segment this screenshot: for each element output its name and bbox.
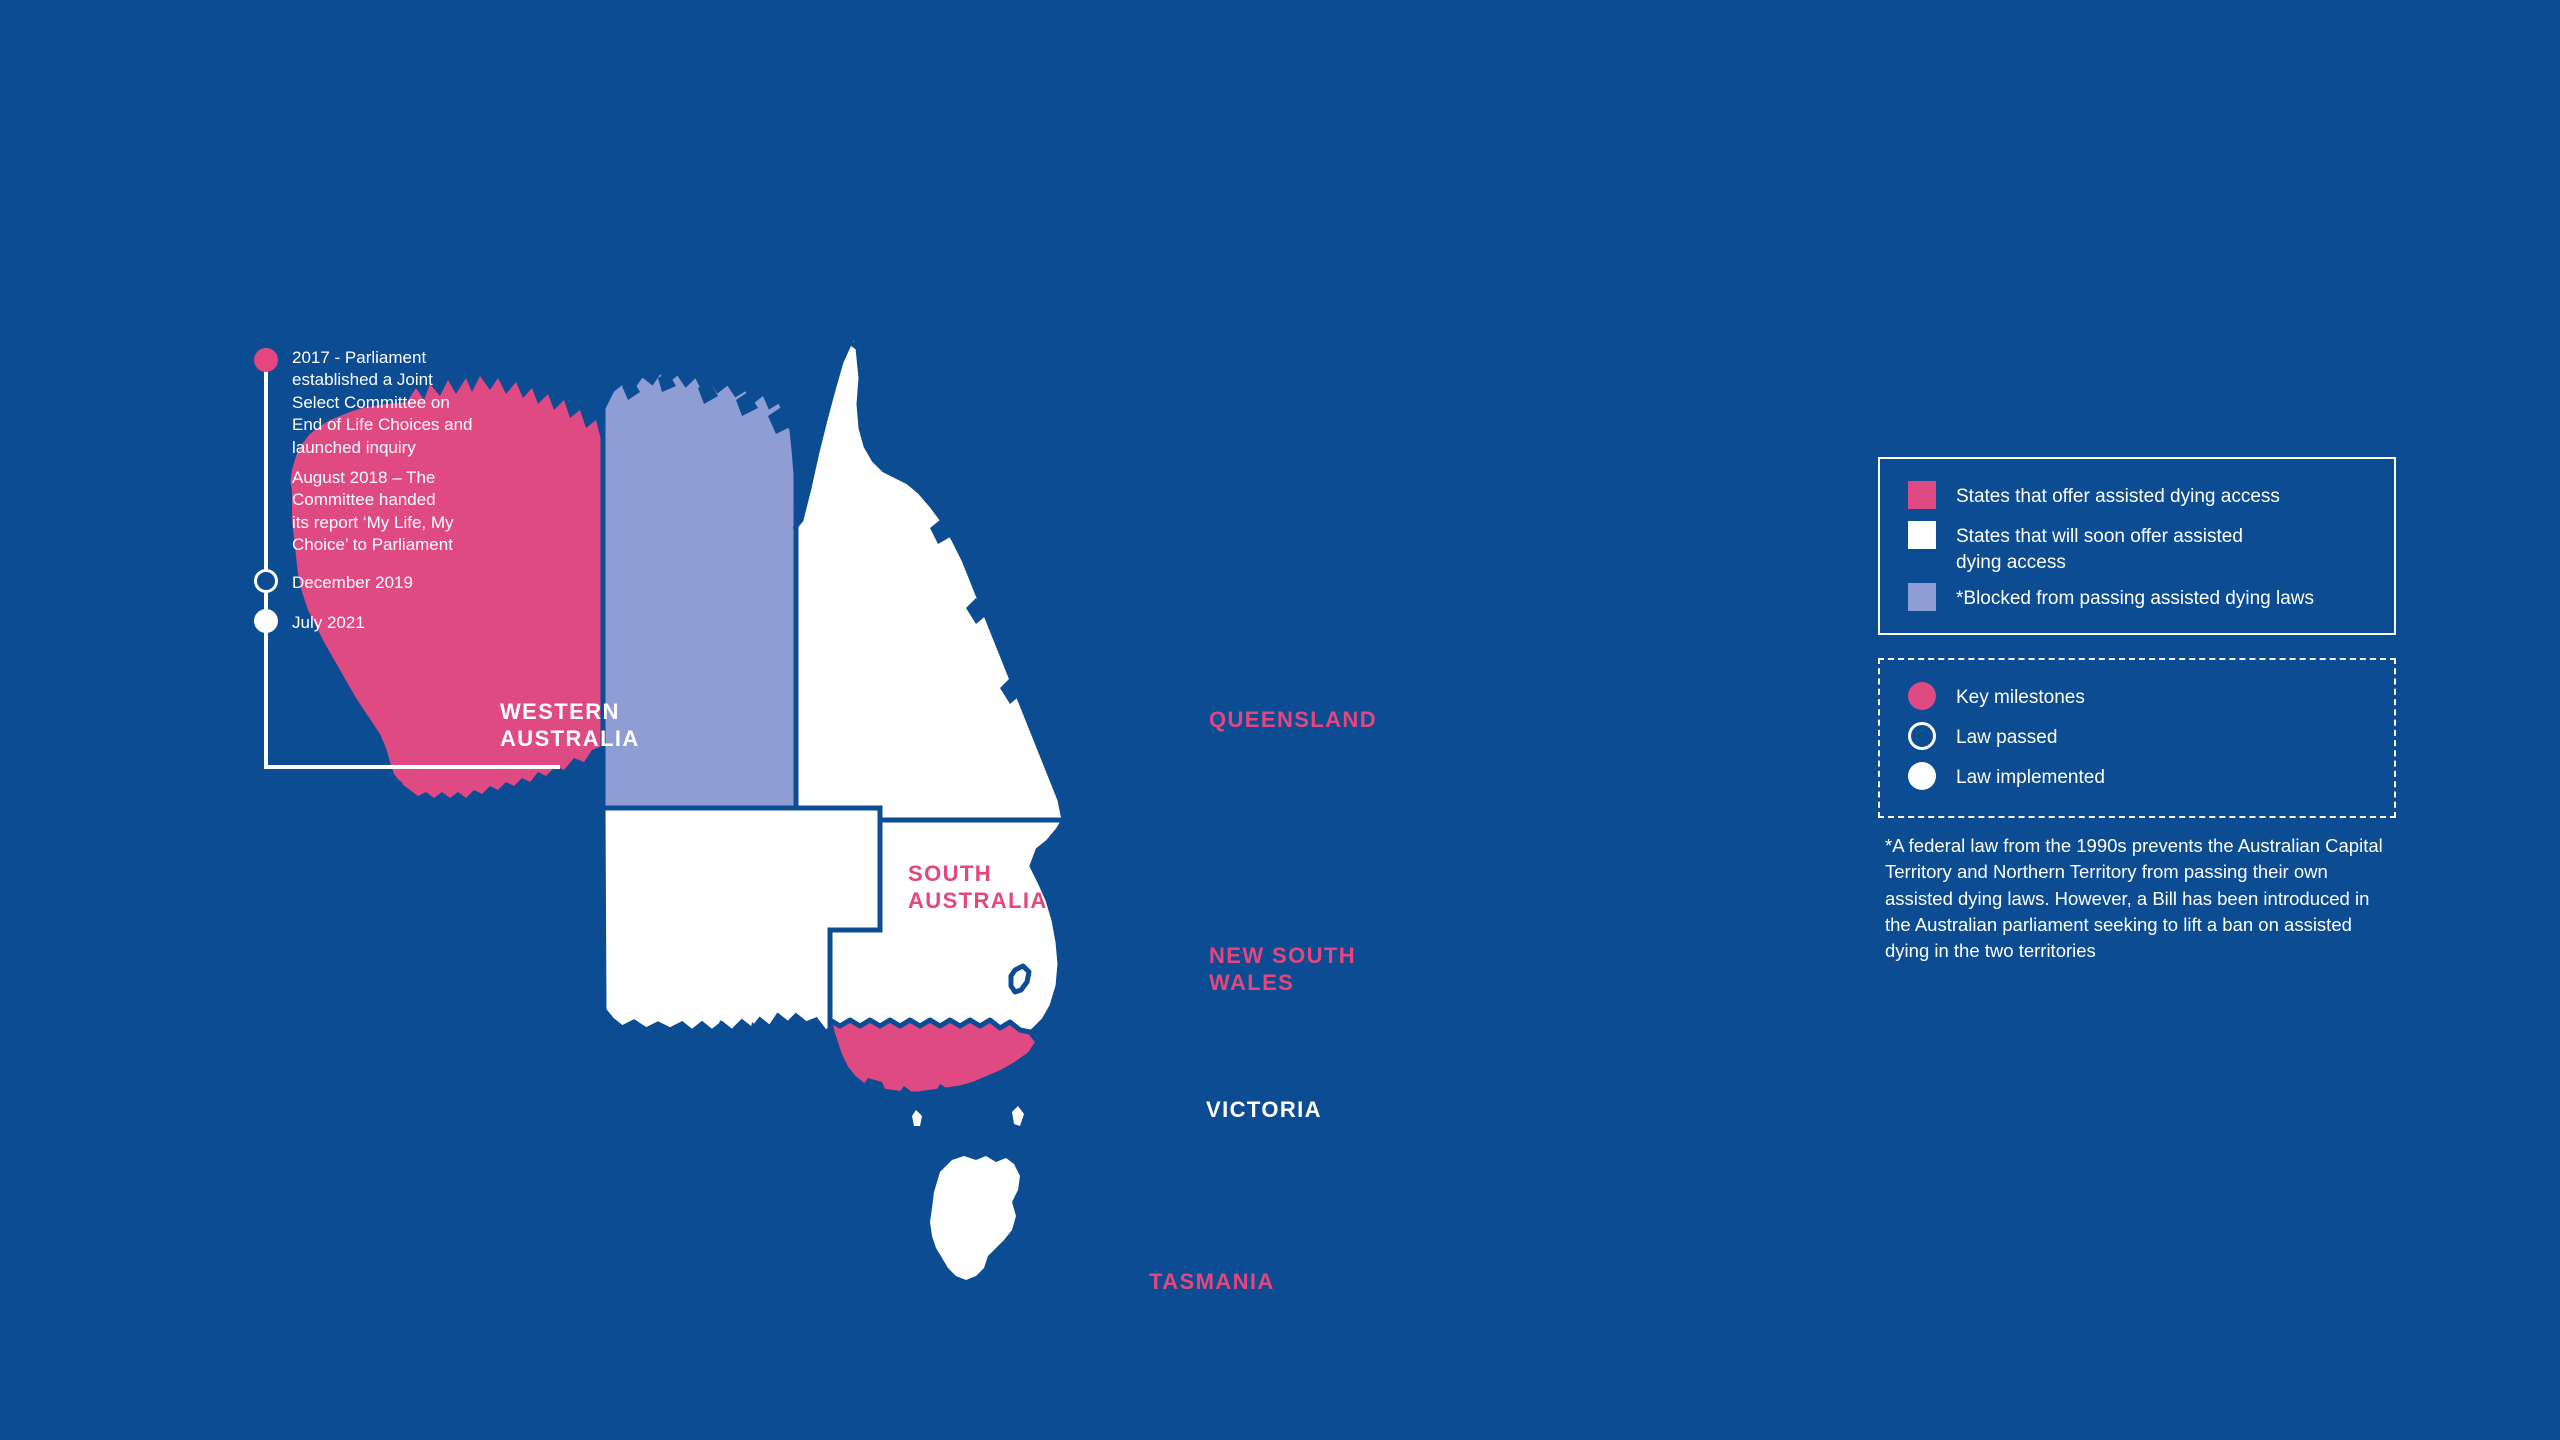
legend-item-key-milestones[interactable]: Key milestones [1908,682,2085,711]
timeline-vertical-line [264,348,268,769]
legend-item-will-soon-offer[interactable]: States that will soon offer assisted dyi… [1908,521,2243,575]
dot-filled-white-icon [1908,762,1936,790]
timeline-text-december-2019: December 2019 [292,572,502,594]
map-region-queensland-body[interactable] [796,342,1064,820]
legend-states-panel: States that offer assisted dying access … [1878,457,2396,635]
timeline-marker-key-milestone[interactable] [254,348,278,372]
legend-label-blocked: *Blocked from passing assisted dying law… [1956,586,2314,612]
timeline-marker-law-passed[interactable] [254,569,278,593]
legend-item-law-implemented[interactable]: Law implemented [1908,762,2105,791]
legend-label-law-passed: Law passed [1956,725,2057,751]
legend-key-panel: Key milestones Law passed Law implemente… [1878,658,2396,818]
dot-filled-pink-icon [1908,682,1936,710]
legend-label-will-soon-offer: States that will soon offer assisted dyi… [1956,524,2243,575]
legend-item-offers-access[interactable]: States that offer assisted dying access [1908,481,2280,510]
map-region-victoria[interactable] [830,1020,1038,1094]
timeline-marker-law-implemented[interactable] [254,609,278,633]
timeline-horizontal-line [264,765,560,769]
legend-item-blocked[interactable]: *Blocked from passing assisted dying law… [1908,583,2314,612]
legend-label-key-milestones: Key milestones [1956,685,2085,711]
footnote-text: *A federal law from the 1990s prevents t… [1885,833,2385,964]
legend-label-law-implemented: Law implemented [1956,765,2105,791]
timeline-text-july-2021: July 2021 [292,612,502,634]
swatch-white-icon [1908,521,1936,549]
map-region-tasmania[interactable] [912,1106,1024,1280]
wa-timeline: 2017 - Parliament established a Joint Se… [240,330,640,780]
dot-hollow-icon [1908,722,1936,750]
infographic-canvas: WESTERN AUSTRALIA QUEENSLAND SOUTH AUSTR… [0,0,2560,1440]
legend-label-offers-access: States that offer assisted dying access [1956,484,2280,510]
swatch-pink-icon [1908,481,1936,509]
legend-item-law-passed[interactable]: Law passed [1908,722,2057,751]
map-coastline-detail-sa [714,1020,792,1086]
swatch-periwinkle-icon [1908,583,1936,611]
timeline-text-2017: 2017 - Parliament established a Joint Se… [292,347,502,459]
timeline-text-2018: August 2018 – The Committee handed its r… [292,467,502,557]
